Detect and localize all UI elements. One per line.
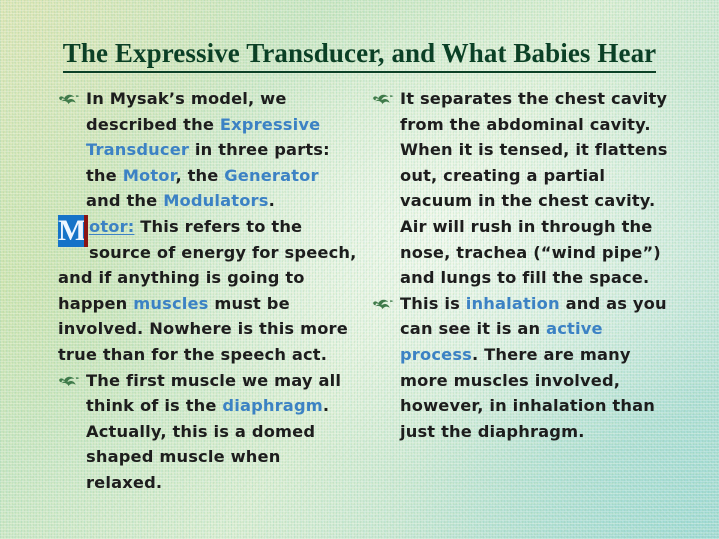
drop-cap-letter: M: [58, 215, 88, 247]
emphasis-text: Generator: [224, 166, 318, 185]
slide-canvas: The Expressive Transducer, and What Babi…: [0, 0, 719, 539]
bullet-paragraph: In Mysak’s model, we described the Expre…: [58, 86, 358, 214]
leaf-flourish-bullet-icon: [58, 91, 80, 107]
bullet-paragraph: The first muscle we may all think of is …: [58, 368, 358, 496]
body-text: and the: [86, 191, 163, 210]
leaf-flourish-bullet-icon: [372, 91, 394, 107]
emphasis-text: muscles: [133, 294, 208, 313]
emphasis-underlined-text: otor:: [89, 217, 134, 236]
body-text: It separates the chest cavity from the a…: [400, 89, 668, 287]
leaf-flourish-bullet-icon: [372, 296, 394, 312]
bullet-paragraph: Motor: This refers to the source of ener…: [58, 214, 358, 368]
page-title: The Expressive Transducer, and What Babi…: [0, 38, 719, 73]
body-text: This is: [400, 294, 466, 313]
right-text-column: It separates the chest cavity from the a…: [372, 86, 672, 444]
emphasis-text: Motor: [123, 166, 176, 185]
emphasis-text: diaphragm: [222, 396, 322, 415]
body-text: .: [269, 191, 275, 210]
leaf-flourish-bullet-icon: [58, 373, 80, 389]
body-text: , the: [175, 166, 224, 185]
emphasis-text: inhalation: [466, 294, 560, 313]
emphasis-text: Modulators: [163, 191, 268, 210]
page-title-text: The Expressive Transducer, and What Babi…: [63, 38, 657, 73]
bullet-paragraph: This is inhalation and as you can see it…: [372, 291, 672, 445]
left-text-column: In Mysak’s model, we described the Expre…: [58, 86, 358, 496]
bullet-paragraph: It separates the chest cavity from the a…: [372, 86, 672, 291]
